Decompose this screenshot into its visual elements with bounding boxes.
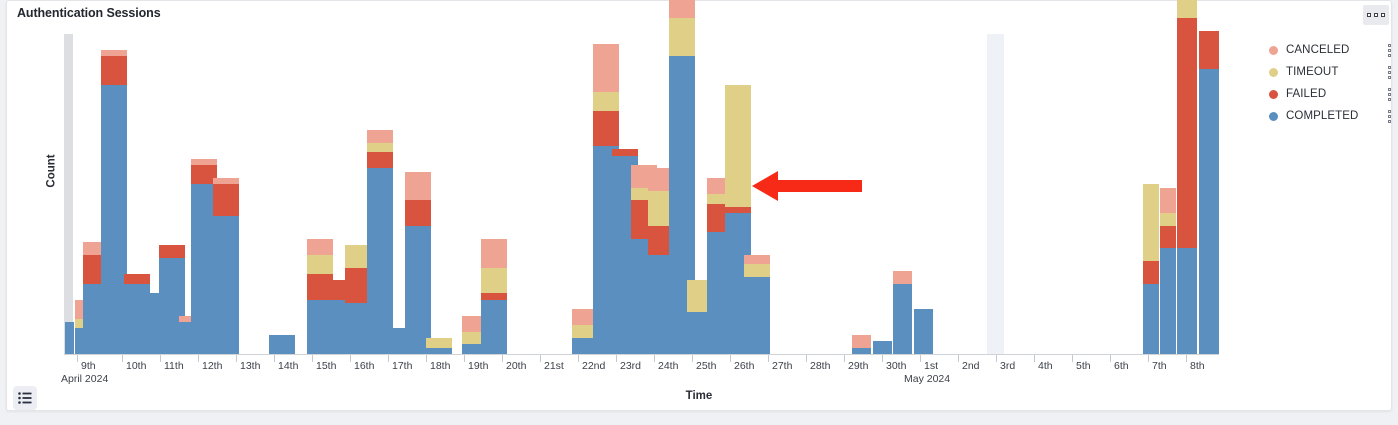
bar-segment-completed[interactable] <box>893 284 912 354</box>
bar-segment-canceled[interactable] <box>744 255 770 265</box>
x-axis-tick-label: 13th <box>240 360 260 372</box>
x-axis-tick-label: 12th <box>202 360 222 372</box>
legend-color-swatch <box>1269 112 1278 121</box>
x-axis-line <box>64 354 1219 355</box>
chart-bar[interactable] <box>744 255 770 354</box>
legend-item-completed[interactable]: COMPLETED <box>1269 105 1389 127</box>
x-axis-tick-label: 16th <box>354 360 374 372</box>
x-axis-tick-label: 18th <box>430 360 450 372</box>
list-icon <box>18 392 32 404</box>
bar-segment-canceled[interactable] <box>852 335 871 348</box>
legend-item-timeout[interactable]: TIMEOUT <box>1269 61 1389 83</box>
x-axis-tick-label: 29th <box>848 360 868 372</box>
legend-drag-handle[interactable] <box>1388 44 1391 57</box>
bar-segment-completed[interactable] <box>481 300 507 354</box>
x-axis-tick-label: 22nd <box>582 360 605 372</box>
chart-bar[interactable] <box>65 322 74 354</box>
x-axis-tick-label: 19th <box>468 360 488 372</box>
x-axis-tick-label: 2nd <box>962 360 980 372</box>
legend-item-label: COMPLETED <box>1286 110 1358 122</box>
legend-item-label: FAILED <box>1286 88 1326 100</box>
x-axis-tick <box>578 355 579 362</box>
x-axis-tick <box>730 355 731 362</box>
x-axis-tick-label: 6th <box>1114 360 1129 372</box>
x-axis-tick <box>388 355 389 362</box>
bar-segment-timeout[interactable] <box>744 264 770 277</box>
x-axis-tick-label: 26th <box>734 360 754 372</box>
x-axis-tick-label: 28th <box>810 360 830 372</box>
bar-segment-failed[interactable] <box>101 56 127 85</box>
bar-segment-failed[interactable] <box>405 200 431 226</box>
x-axis-tick <box>312 355 313 362</box>
x-axis-tick <box>996 355 997 362</box>
chart-bar[interactable] <box>873 341 892 354</box>
bar-segment-completed[interactable] <box>213 216 239 354</box>
legend-color-swatch <box>1269 46 1278 55</box>
bar-segment-failed[interactable] <box>1160 226 1176 248</box>
bar-segment-failed[interactable] <box>593 111 619 146</box>
x-axis-tick <box>920 355 921 362</box>
x-axis-tick <box>1110 355 1111 362</box>
bar-segment-failed[interactable] <box>1177 18 1197 248</box>
screenshot-root: Authentication Sessions Count 9thApril 2… <box>0 0 1398 425</box>
x-axis-tick-label: 14th <box>278 360 298 372</box>
legend-drag-handle[interactable] <box>1388 66 1391 79</box>
x-axis-tick <box>426 355 427 362</box>
chart-bar[interactable] <box>1199 31 1219 354</box>
legend-drag-handle[interactable] <box>1388 110 1391 123</box>
legend-color-swatch <box>1269 90 1278 99</box>
bar-segment-canceled[interactable] <box>481 239 507 268</box>
x-axis-tick-label: 15th <box>316 360 336 372</box>
chart-bar[interactable] <box>1143 184 1159 354</box>
x-axis-tick <box>654 355 655 362</box>
x-axis-tick-label: 4th <box>1038 360 1053 372</box>
x-axis-month-caption: April 2024 <box>61 373 108 385</box>
chart-bar[interactable] <box>213 178 239 354</box>
chart-bar[interactable] <box>481 239 507 354</box>
x-axis-tick <box>1186 355 1187 362</box>
x-axis-tick-label: 17th <box>392 360 412 372</box>
x-axis-tick <box>122 355 123 362</box>
authentication-sessions-panel: Authentication Sessions Count 9thApril 2… <box>6 0 1392 411</box>
bar-segment-completed[interactable] <box>1199 69 1219 354</box>
bar-segment-completed[interactable] <box>873 341 892 354</box>
chart-bar[interactable] <box>893 271 912 354</box>
x-axis-tick-label: 21st <box>544 360 564 372</box>
bar-segment-timeout[interactable] <box>1177 0 1197 18</box>
chart-plot-area[interactable] <box>64 34 1219 354</box>
x-axis-tick <box>274 355 275 362</box>
legend-drag-handle[interactable] <box>1388 88 1391 101</box>
bar-segment-failed[interactable] <box>1143 261 1159 283</box>
x-axis-tick <box>1148 355 1149 362</box>
x-axis-tick <box>464 355 465 362</box>
chart-bar[interactable] <box>914 309 933 354</box>
bar-segment-completed[interactable] <box>1177 248 1197 354</box>
bar-segment-timeout[interactable] <box>593 92 619 111</box>
x-axis-tick <box>616 355 617 362</box>
x-axis-tick <box>502 355 503 362</box>
x-axis-tick-label: 9thApril 2024 <box>81 360 108 385</box>
bar-segment-completed[interactable] <box>744 277 770 354</box>
bar-segment-canceled[interactable] <box>893 271 912 284</box>
legend-item-failed[interactable]: FAILED <box>1269 83 1389 105</box>
x-axis-tick <box>1072 355 1073 362</box>
x-axis-tick-label: 30th <box>886 360 906 372</box>
chart-bar[interactable] <box>426 338 452 354</box>
x-axis-tick <box>844 355 845 362</box>
bar-segment-timeout[interactable] <box>1160 213 1176 226</box>
chart-bar[interactable] <box>367 130 393 354</box>
chart-legend[interactable]: CANCELEDTIMEOUTFAILEDCOMPLETED <box>1269 39 1389 127</box>
highlight-band <box>987 34 1004 354</box>
x-axis-tick-label: 7th <box>1152 360 1167 372</box>
bar-segment-completed[interactable] <box>269 335 295 354</box>
bar-segment-completed[interactable] <box>1160 248 1176 354</box>
bar-segment-completed[interactable] <box>914 309 933 354</box>
chart-bar[interactable] <box>405 172 431 354</box>
chart-bar[interactable] <box>269 335 295 354</box>
bar-segment-canceled[interactable] <box>307 239 333 255</box>
x-axis-tick <box>236 355 237 362</box>
bar-segment-completed[interactable] <box>65 322 74 354</box>
bar-segment-canceled[interactable] <box>405 172 431 201</box>
x-axis-tick <box>77 355 78 362</box>
bar-segment-timeout[interactable] <box>426 338 452 348</box>
bar-segment-canceled[interactable] <box>367 130 393 143</box>
bar-segment-canceled[interactable] <box>669 0 695 18</box>
bar-segment-completed[interactable] <box>367 168 393 354</box>
highlight-band <box>64 34 73 354</box>
x-axis-title: Time <box>7 390 1391 402</box>
bar-segment-timeout[interactable] <box>725 85 751 207</box>
bar-segment-failed[interactable] <box>124 274 150 284</box>
x-axis-tick-label: 10th <box>126 360 146 372</box>
x-axis-tick <box>350 355 351 362</box>
legend-color-swatch <box>1269 68 1278 77</box>
bar-segment-timeout[interactable] <box>1143 184 1159 261</box>
bar-segment-canceled[interactable] <box>1160 188 1176 214</box>
bar-segment-completed[interactable] <box>405 226 431 354</box>
x-axis-tick-label: 23rd <box>620 360 641 372</box>
chart-bar[interactable] <box>1160 188 1176 354</box>
x-axis-month-caption: May 2024 <box>904 373 950 385</box>
bar-segment-timeout[interactable] <box>481 268 507 294</box>
x-axis-tick-label: 8th <box>1190 360 1205 372</box>
chart-bar[interactable] <box>1177 0 1197 354</box>
x-axis-tick <box>540 355 541 362</box>
bar-segment-failed[interactable] <box>1199 31 1219 69</box>
x-axis-tick-label: 11th <box>164 360 184 372</box>
chart-bar[interactable] <box>852 335 871 354</box>
overflow-menu-icon[interactable] <box>1363 5 1389 25</box>
x-axis-tick-label: 1stMay 2024 <box>924 360 950 385</box>
x-axis-tick-label: 27th <box>772 360 792 372</box>
bar-segment-timeout[interactable] <box>367 143 393 153</box>
bar-segment-timeout[interactable] <box>307 255 333 274</box>
x-axis-tick-label: 24th <box>658 360 678 372</box>
legend-toggle-button[interactable] <box>13 386 37 410</box>
bar-segment-timeout[interactable] <box>669 18 695 56</box>
x-axis-tick-label: 3rd <box>1000 360 1015 372</box>
page-title: Authentication Sessions <box>17 6 161 20</box>
bar-segment-canceled[interactable] <box>593 44 619 92</box>
x-axis-tick <box>958 355 959 362</box>
x-axis-tick-label: 20th <box>506 360 526 372</box>
legend-item-canceled[interactable]: CANCELED <box>1269 39 1389 61</box>
x-axis-tick <box>882 355 883 362</box>
x-axis-tick <box>1034 355 1035 362</box>
x-axis-tick-label: 5th <box>1076 360 1091 372</box>
bar-segment-failed[interactable] <box>159 245 185 258</box>
legend-item-label: TIMEOUT <box>1286 66 1338 78</box>
y-axis-title: Count <box>46 154 58 187</box>
bar-segment-failed[interactable] <box>213 184 239 216</box>
bar-segment-failed[interactable] <box>367 152 393 168</box>
bar-segment-completed[interactable] <box>1143 284 1159 354</box>
x-axis-tick <box>768 355 769 362</box>
x-axis-tick <box>160 355 161 362</box>
x-axis-tick <box>198 355 199 362</box>
x-axis-tick-label: 25th <box>696 360 716 372</box>
x-axis-tick <box>692 355 693 362</box>
x-axis-tick <box>806 355 807 362</box>
legend-item-label: CANCELED <box>1286 44 1349 56</box>
